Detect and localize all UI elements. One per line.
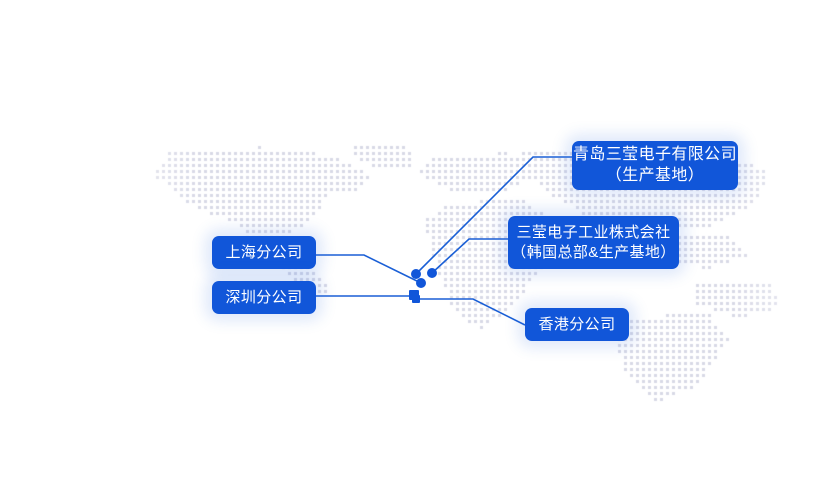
label-hongkong-branch[interactable]: 香港分公司 bbox=[525, 308, 629, 341]
connector-lines-layer bbox=[0, 0, 824, 480]
label-hongkong-branch-line-1: 香港分公司 bbox=[538, 315, 615, 334]
label-shenzhen-branch[interactable]: 深圳分公司 bbox=[212, 281, 316, 314]
connector-korea bbox=[432, 239, 508, 273]
map-marker-shanghai[interactable] bbox=[416, 278, 426, 288]
map-stage: 青岛三莹电子有限公司（生产基地）三莹电子工业株式会社（韩国总部&生产基地）上海分… bbox=[0, 0, 824, 480]
map-marker-korea[interactable] bbox=[427, 268, 437, 278]
connector-hongkong bbox=[416, 299, 525, 325]
label-qingdao-factory-line-2: （生产基地） bbox=[606, 166, 704, 186]
label-korea-headquarters-line-1: 三莹电子工业株式会社 bbox=[516, 223, 670, 242]
label-qingdao-factory-line-1: 青岛三莹电子有限公司 bbox=[573, 145, 737, 165]
label-shenzhen-branch-line-1: 深圳分公司 bbox=[225, 288, 302, 307]
label-korea-headquarters-line-2: （韩国总部&生产基地） bbox=[511, 243, 675, 262]
connector-shanghai bbox=[316, 255, 421, 283]
map-marker-hongkong[interactable] bbox=[412, 295, 420, 303]
label-qingdao-factory[interactable]: 青岛三莹电子有限公司（生产基地） bbox=[572, 141, 738, 190]
label-korea-headquarters[interactable]: 三莹电子工业株式会社（韩国总部&生产基地） bbox=[508, 216, 679, 269]
label-shanghai-branch-line-1: 上海分公司 bbox=[225, 243, 302, 262]
label-shanghai-branch[interactable]: 上海分公司 bbox=[212, 236, 316, 269]
